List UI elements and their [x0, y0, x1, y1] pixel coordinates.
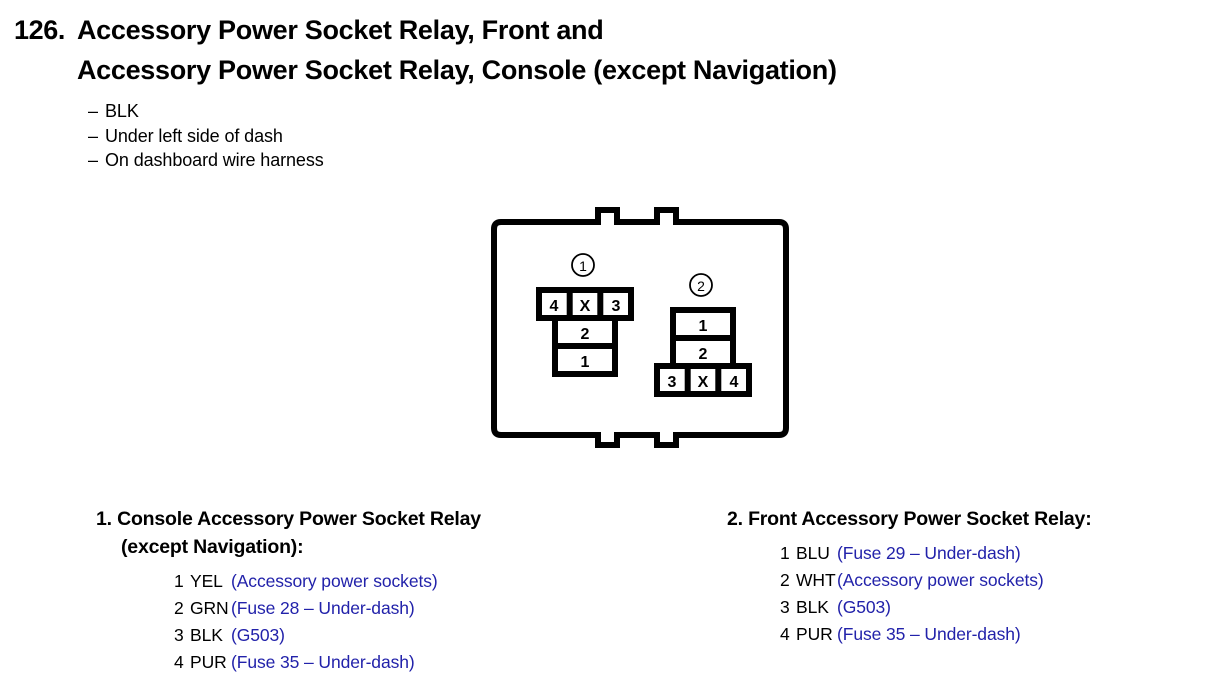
pin-wire-color: WHT	[796, 567, 837, 594]
legend-title-line-1: 1. Console Accessory Power Socket Relay	[96, 505, 696, 533]
pin-description: (Accessory power sockets)	[837, 570, 1044, 590]
pin-number: 4	[174, 649, 190, 676]
legend-pin-list: 1YEL(Accessory power sockets) 2GRN(Fuse …	[96, 568, 696, 676]
legend-pin-row: 1BLU(Fuse 29 – Under-dash)	[780, 540, 1222, 567]
connector-1-marker: 1	[572, 254, 594, 276]
pin-number: 3	[174, 622, 190, 649]
pin-description: (Fuse 35 – Under-dash)	[837, 624, 1021, 644]
relay-body-outline	[494, 210, 786, 445]
note-text: Under left side of dash	[105, 126, 283, 146]
legend-pin-row: 3BLK(G503)	[780, 594, 1222, 621]
legend-pin-row: 3BLK(G503)	[174, 622, 696, 649]
legend-pin-row: 4PUR(Fuse 35 – Under-dash)	[780, 621, 1222, 648]
connector-2-stack: 1 2	[673, 310, 733, 366]
note-text: On dashboard wire harness	[105, 150, 324, 170]
notes-list: –BLK –Under left side of dash –On dashbo…	[88, 99, 324, 173]
legend-pin-row: 1YEL(Accessory power sockets)	[174, 568, 696, 595]
connector-1-marker-label: 1	[579, 258, 587, 274]
connector-1-pin-cell: X	[580, 298, 591, 315]
pin-description: (G503)	[837, 597, 891, 617]
dash-bullet-icon: –	[88, 124, 105, 149]
pin-wire-color: BLK	[796, 594, 837, 621]
pin-description: (Fuse 28 – Under-dash)	[231, 598, 415, 618]
pin-description: (Accessory power sockets)	[231, 571, 438, 591]
note-item: –BLK	[88, 99, 324, 124]
connector-2-pin-cell: X	[698, 374, 709, 391]
pin-wire-color: BLK	[190, 622, 231, 649]
section-number: 126.	[14, 10, 65, 50]
note-text: BLK	[105, 101, 139, 121]
pin-number: 1	[174, 568, 190, 595]
note-item: –Under left side of dash	[88, 124, 324, 149]
connector-2-pin-cell: 3	[668, 374, 677, 391]
pin-number: 3	[780, 594, 796, 621]
pin-number: 2	[174, 595, 190, 622]
connector-1-pin-cell: 1	[581, 354, 590, 371]
heading-line-2: Accessory Power Socket Relay, Console (e…	[77, 50, 1214, 90]
pin-description: (G503)	[231, 625, 285, 645]
connector-1-pin-cell: 3	[612, 298, 621, 315]
connector-2-pin-cell: 1	[699, 318, 708, 335]
connector-2-marker-label: 2	[697, 278, 705, 294]
heading-line-1: Accessory Power Socket Relay, Front and	[77, 10, 1214, 50]
heading-lines: Accessory Power Socket Relay, Front and …	[77, 10, 1214, 90]
connector-2-pin-cell: 2	[699, 346, 708, 363]
connector-1-stack: 2 1	[555, 318, 615, 374]
legend-column-console-relay: 1. Console Accessory Power Socket Relay …	[96, 505, 696, 676]
legend-pin-row: 2WHT(Accessory power sockets)	[780, 567, 1222, 594]
pin-wire-color: PUR	[796, 621, 837, 648]
pin-description: (Fuse 35 – Under-dash)	[231, 652, 415, 672]
dash-bullet-icon: –	[88, 99, 105, 124]
pin-wire-color: PUR	[190, 649, 231, 676]
pin-number: 1	[780, 540, 796, 567]
page-heading: 126. Accessory Power Socket Relay, Front…	[14, 10, 1214, 90]
pin-number: 4	[780, 621, 796, 648]
relay-connector-diagram: 1 4 X 3 2 1 2 1 2	[480, 193, 810, 463]
connector-1-pin-cell: 4	[550, 298, 559, 315]
pin-wire-color: GRN	[190, 595, 231, 622]
pin-number: 2	[780, 567, 796, 594]
dash-bullet-icon: –	[88, 148, 105, 173]
legend-pin-row: 2GRN(Fuse 28 – Under-dash)	[174, 595, 696, 622]
legend-pin-list: 1BLU(Fuse 29 – Under-dash) 2WHT(Accessor…	[727, 540, 1222, 648]
connector-2-marker: 2	[690, 274, 712, 296]
connector-2-bottom-row: 3 X 4	[657, 366, 749, 394]
legend-title-line-2: (except Navigation):	[96, 533, 696, 561]
note-item: –On dashboard wire harness	[88, 148, 324, 173]
pin-wire-color: YEL	[190, 568, 231, 595]
pin-description: (Fuse 29 – Under-dash)	[837, 543, 1021, 563]
legend-title-line-1: 2. Front Accessory Power Socket Relay:	[727, 505, 1222, 533]
legend-column-front-relay: 2. Front Accessory Power Socket Relay: 1…	[727, 505, 1222, 648]
pin-wire-color: BLU	[796, 540, 837, 567]
legend-pin-row: 4PUR(Fuse 35 – Under-dash)	[174, 649, 696, 676]
connector-1-pin-cell: 2	[581, 326, 590, 343]
connector-1-top-row: 4 X 3	[539, 290, 631, 318]
connector-2-pin-cell: 4	[730, 374, 739, 391]
